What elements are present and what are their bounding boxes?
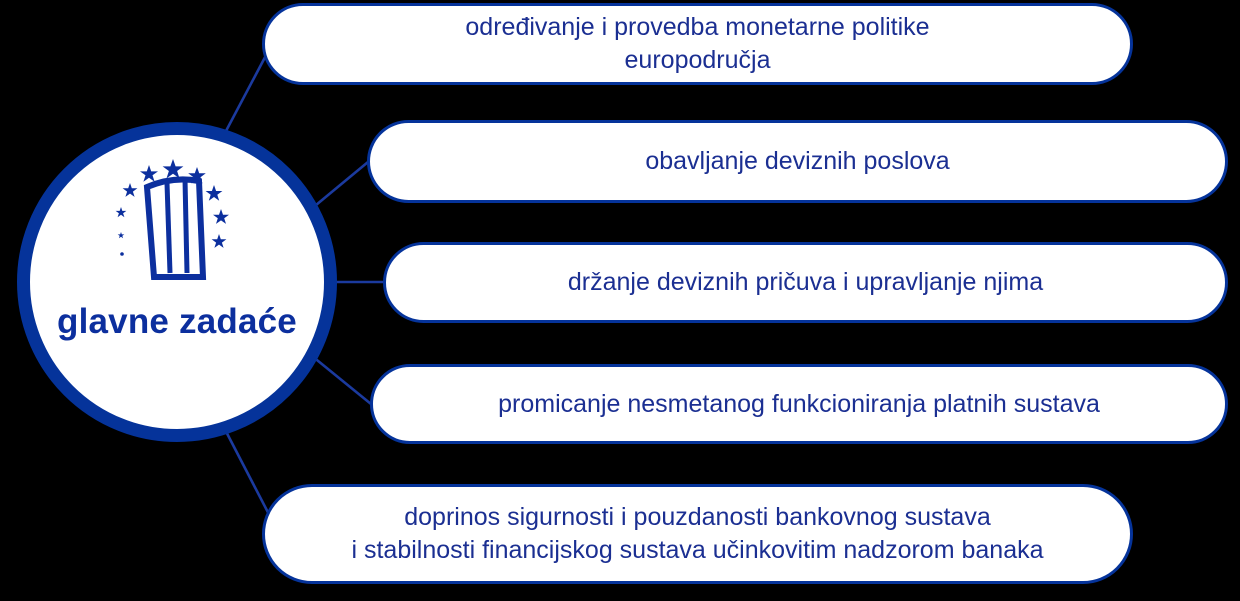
hub-circle[interactable]: glavne zadaće: [17, 122, 337, 442]
task-pill-1-text: obavljanje deviznih poslova: [619, 145, 975, 178]
task-pill-2[interactable]: držanje deviznih pričuva i upravljanje n…: [383, 242, 1228, 323]
task-pill-1[interactable]: obavljanje deviznih poslova: [367, 120, 1228, 203]
hub-label: glavne zadaće: [57, 301, 297, 344]
ecb-building-stars-icon: [111, 157, 243, 285]
connector-line-3: [312, 356, 371, 404]
task-pill-4-text: doprinos sigurnosti i pouzdanosti bankov…: [325, 501, 1069, 567]
task-pill-3-text: promicanje nesmetanog funkcioniranja pla…: [472, 388, 1126, 421]
task-pill-4[interactable]: doprinos sigurnosti i pouzdanosti bankov…: [262, 484, 1133, 584]
task-pill-0-text: određivanje i provedba monetarne politik…: [439, 11, 955, 77]
task-pill-0[interactable]: određivanje i provedba monetarne politik…: [262, 3, 1133, 85]
connector-line-1: [310, 162, 368, 210]
diagram-canvas: glavne zadaće određivanje i provedba mon…: [0, 0, 1240, 601]
task-pill-3[interactable]: promicanje nesmetanog funkcioniranja pla…: [370, 364, 1228, 444]
task-pill-2-text: držanje deviznih pričuva i upravljanje n…: [542, 266, 1069, 299]
